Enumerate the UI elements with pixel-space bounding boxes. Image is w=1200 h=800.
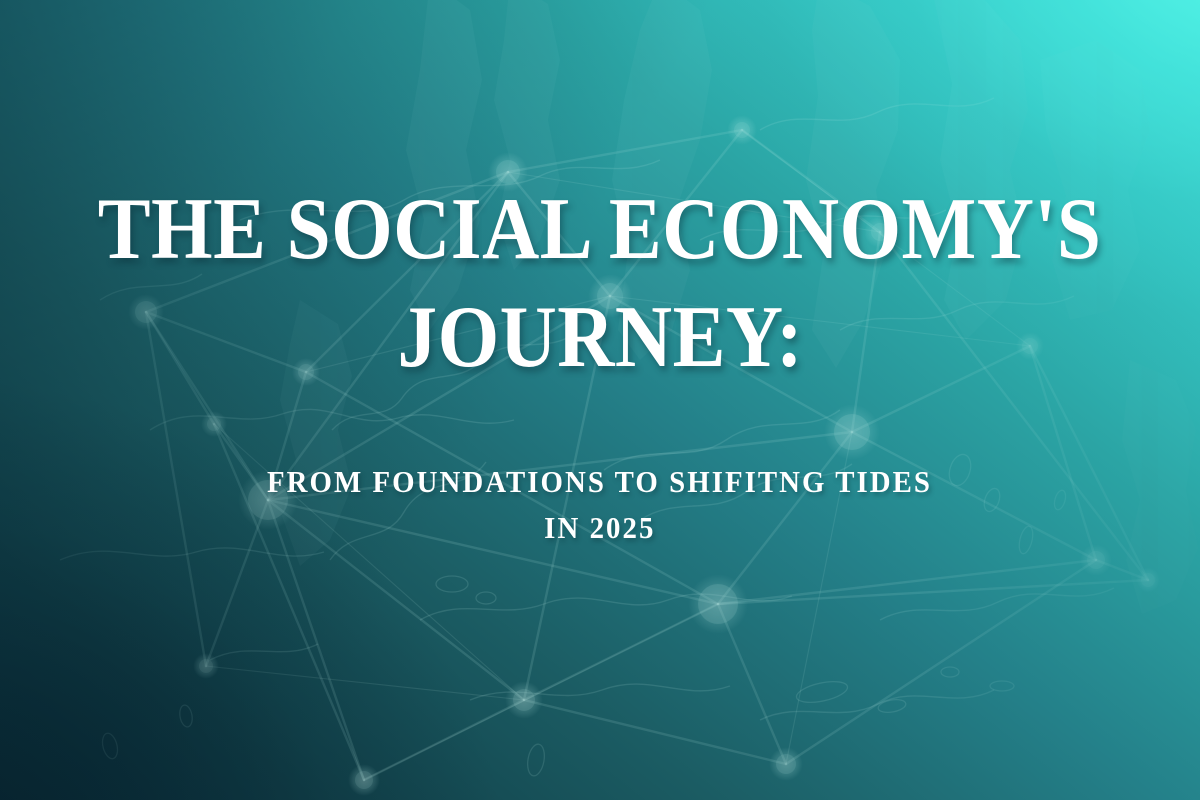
slide-title-line-2: JOURNEY: (0, 294, 1200, 382)
slide-subtitle-line-1: FROM FOUNDATIONS TO SHIFITNG TIDES (0, 466, 1200, 497)
slide-title-line-2-text: JOURNEY: (397, 294, 803, 382)
slide-subtitle-line-2: IN 2025 (0, 512, 1200, 543)
slide-subtitle-line-2-text: IN 2025 (544, 512, 655, 543)
slide-title-line-1-text: THE SOCIAL ECONOMY'S (98, 186, 1102, 274)
title-slide: THE SOCIAL ECONOMY'S JOURNEY: FROM FOUND… (0, 0, 1200, 800)
slide-title-line-1: THE SOCIAL ECONOMY'S (0, 186, 1200, 274)
slide-subtitle-line-1-text: FROM FOUNDATIONS TO SHIFITNG TIDES (268, 466, 933, 497)
title-text-block: THE SOCIAL ECONOMY'S JOURNEY: FROM FOUND… (0, 0, 1200, 800)
